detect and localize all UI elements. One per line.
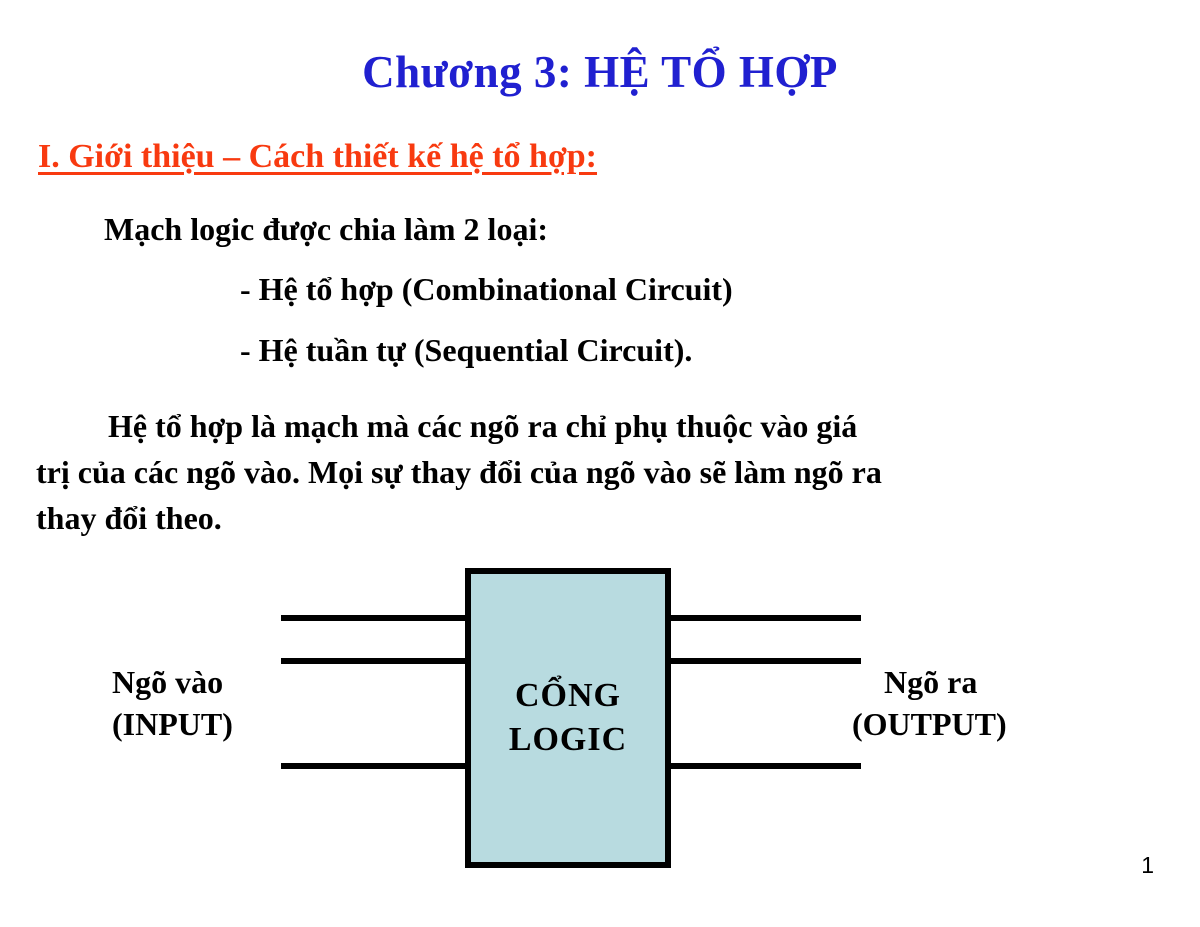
definition-paragraph-line-1: Hệ tổ hợp là mạch mà các ngõ ra chỉ phụ … xyxy=(36,403,1176,449)
page-number: 1 xyxy=(1141,852,1154,879)
lead-statement: Mạch logic được chia làm 2 loại: xyxy=(104,209,548,249)
input-wire-1 xyxy=(281,615,473,621)
definition-paragraph-line-2: trị của các ngõ vào. Mọi sự thay đổi của… xyxy=(36,449,1176,495)
list-item: - Hệ tổ hợp (Combinational Circuit) xyxy=(240,269,733,309)
output-wire-1 xyxy=(666,615,861,621)
input-label-primary: Ngõ vào xyxy=(112,664,223,700)
logic-gate-block: CỔNG LOGIC xyxy=(465,568,671,868)
logic-gate-block-label-line-2: LOGIC xyxy=(509,718,627,762)
input-wire-2 xyxy=(281,658,473,664)
definition-paragraph: Hệ tổ hợp là mạch mà các ngõ ra chỉ phụ … xyxy=(36,403,1176,541)
output-wire-3 xyxy=(666,763,861,769)
block-diagram: CỔNG LOGIC Ngõ vào (INPUT) Ngõ ra (OUTPU… xyxy=(0,530,1200,860)
input-label: Ngõ vào (INPUT) xyxy=(112,661,233,745)
section-heading: I. Giới thiệu – Cách thiết kế hệ tổ hợp: xyxy=(38,136,597,178)
input-wire-3 xyxy=(281,763,473,769)
output-label-primary: Ngõ ra xyxy=(884,664,977,700)
page-title: Chương 3: HỆ TỔ HỢP xyxy=(0,46,1200,98)
output-wire-2 xyxy=(666,658,861,664)
output-label: Ngõ ra (OUTPUT) xyxy=(884,661,1007,745)
logic-gate-block-label-line-1: CỔNG xyxy=(515,674,621,718)
list-item: - Hệ tuần tự (Sequential Circuit). xyxy=(240,330,692,370)
slide-canvas: Chương 3: HỆ TỔ HỢP I. Giới thiệu – Cách… xyxy=(0,0,1200,927)
output-label-secondary: (OUTPUT) xyxy=(852,703,1007,745)
input-label-secondary: (INPUT) xyxy=(112,703,233,745)
